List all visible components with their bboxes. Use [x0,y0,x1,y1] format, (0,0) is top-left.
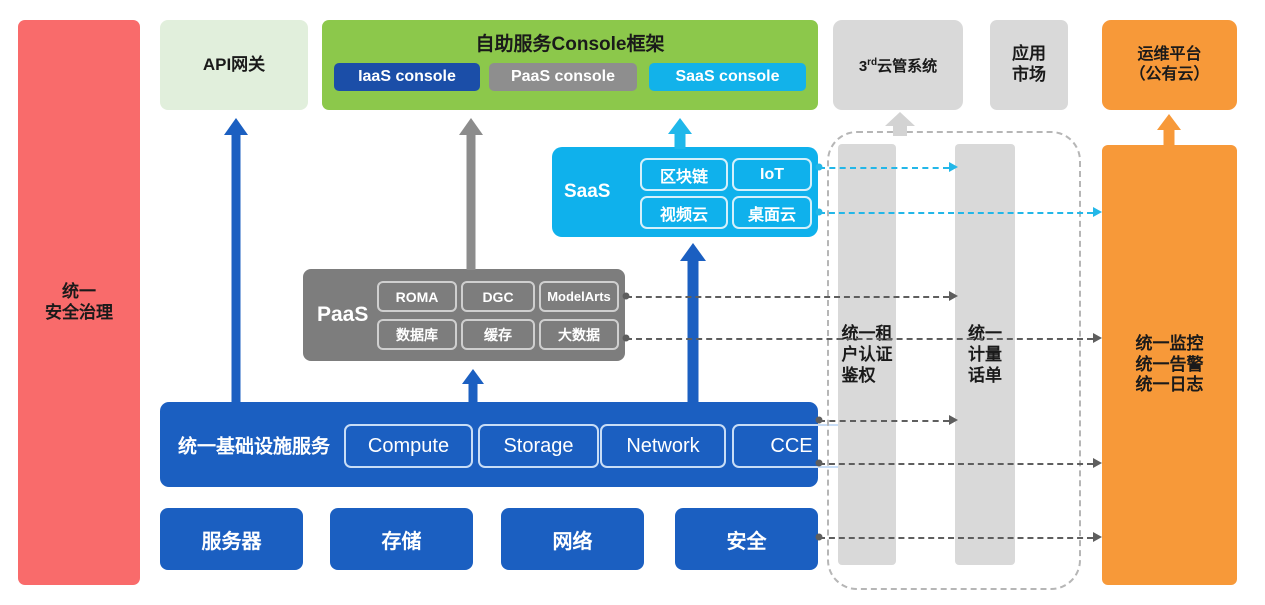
saas-layer-label: SaaS [564,181,610,203]
paas-chip-database[interactable]: 数据库 [377,319,457,350]
shared-service-unified-metering-billing[interactable]: 统一 计量 话单 [955,144,1015,565]
arrowhead-paas-to-billing [949,291,958,301]
paas-chip-roma[interactable]: ROMA [377,281,457,312]
unified-infrastructure-service-bar[interactable]: 统一基础设施服务 Compute Storage Network CCE [160,402,818,487]
dashed-paas-to-billing [626,296,949,298]
arrow-infra-to-saas [680,243,706,405]
infra-chip-storage[interactable]: Storage [478,424,599,468]
arrow-infra-to-api-gateway [224,118,248,405]
saas-chip-desktop-cloud[interactable]: 桌面云 [732,196,812,229]
unified-security-governance-pillar[interactable]: 统一 安全治理 [18,20,140,585]
infra-chip-compute[interactable]: Compute [344,424,473,468]
paas-chip-cache[interactable]: 缓存 [461,319,535,350]
dashed-infra-to-billing [819,420,949,422]
app-market-box[interactable]: 应用 市场 [990,20,1068,110]
architecture-diagram: 统一 安全治理 API网关 自助服务Console框架 IaaS console… [0,0,1265,605]
dashed-hardware-to-ops [819,537,1093,539]
paas-chip-bigdata[interactable]: 大数据 [539,319,619,350]
arrowhead-hardware-to-ops [1093,532,1102,542]
ops-platform-public-cloud-box[interactable]: 运维平台 （公有云） [1102,20,1237,110]
hardware-box-server[interactable]: 服务器 [160,508,303,570]
api-gateway-box[interactable]: API网关 [160,20,308,110]
arrowhead-infra-to-ops [1093,458,1102,468]
third-party-label: 3rd云管系统 [859,55,937,76]
paas-layer-label: PaaS [317,303,368,327]
arrow-saas-to-console [668,118,692,149]
saas-chip-iot[interactable]: IoT [732,158,812,191]
arrow-paas-to-console [459,118,483,270]
saas-chip-video-cloud[interactable]: 视频云 [640,196,728,229]
third-party-cloud-management-box[interactable]: 3rd云管系统 [833,20,963,110]
hardware-box-security[interactable]: 安全 [675,508,818,570]
paas-layer-block[interactable]: PaaS ROMA DGC ModelArts 数据库 缓存 大数据 [303,269,625,361]
arrowhead-paas-to-ops [1093,333,1102,343]
dashed-saas-to-billing [819,167,949,169]
self-service-console-framework[interactable]: 自助服务Console框架 IaaS console PaaS console … [322,20,818,110]
dashed-infra-to-ops [819,463,1093,465]
arrow-infra-to-paas [462,369,484,405]
infra-chip-network[interactable]: Network [600,424,726,468]
third-party-superscript: rd [867,57,877,68]
hardware-box-storage[interactable]: 存储 [330,508,473,570]
arrow-ops-monitor-to-ops-platform [1157,114,1181,146]
saas-chip-blockchain[interactable]: 区块链 [640,158,728,191]
console-framework-title: 自助服务Console框架 [322,29,818,56]
hardware-box-network[interactable]: 网络 [501,508,644,570]
paas-console-chip[interactable]: PaaS console [489,63,637,91]
arrow-shared-to-third-party [885,112,915,136]
arrowhead-saas-to-ops [1093,207,1102,217]
infrastructure-label: 统一基础设施服务 [178,431,330,458]
iaas-console-chip[interactable]: IaaS console [334,63,480,91]
paas-chip-dgc[interactable]: DGC [461,281,535,312]
arrowhead-saas-to-billing [949,162,958,172]
paas-chip-modelarts[interactable]: ModelArts [539,281,619,312]
saas-layer-block[interactable]: SaaS 区块链 IoT 视频云 桌面云 [552,147,818,237]
unified-monitoring-alarm-log-pillar[interactable]: 统一监控 统一告警 统一日志 [1102,145,1237,585]
shared-service-unified-tenant-auth[interactable]: 统一租 户认证 鉴权 [838,144,896,565]
arrowhead-infra-to-billing [949,415,958,425]
dashed-saas-to-ops [819,212,1093,214]
dashed-paas-to-ops [626,338,1093,340]
saas-console-chip[interactable]: SaaS console [649,63,806,91]
